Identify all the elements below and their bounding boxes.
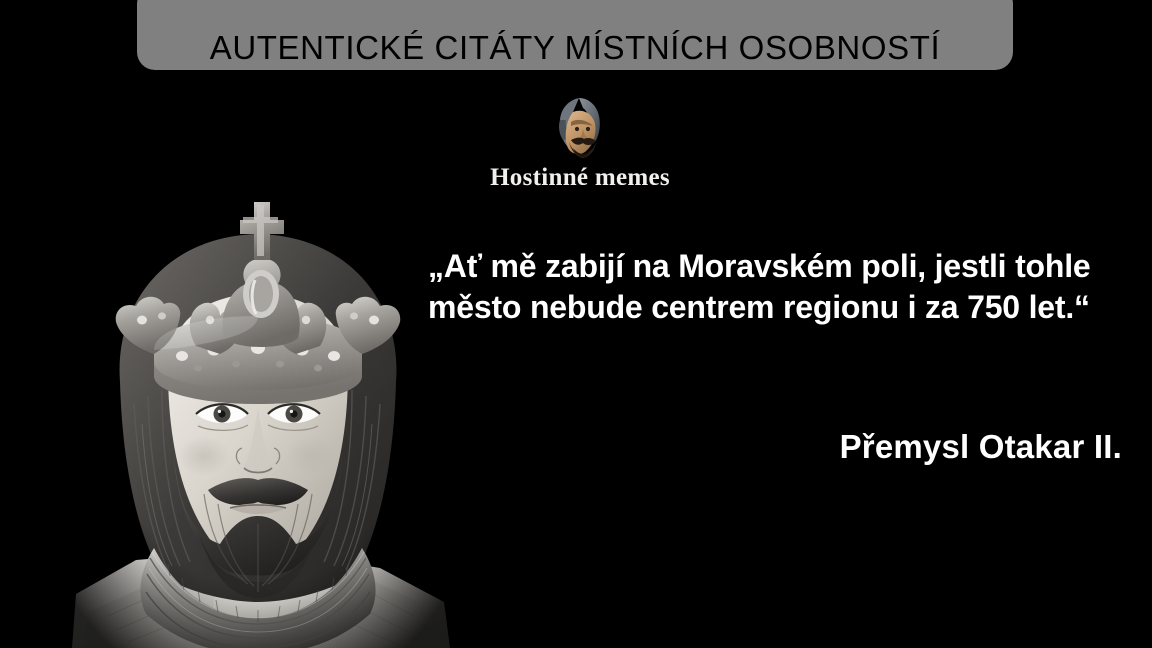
quote-line-1: „Ať mě zabijí na Moravském poli, jestli … bbox=[428, 246, 1144, 287]
meme-slide: AUTENTICKÉ CITÁTY MÍSTNÍCH OSOBNOSTÍ bbox=[0, 0, 1152, 648]
bearded-man-in-helmet-head-icon bbox=[549, 96, 611, 162]
portrait-illustration bbox=[58, 124, 458, 648]
quote-line-2: město nebude centrem regionu i za 750 le… bbox=[428, 287, 1144, 328]
brand-logo: Hostinné memes bbox=[452, 96, 708, 194]
quote-attribution: Přemysl Otakar II. bbox=[428, 428, 1122, 466]
quote-block: „Ať mě zabijí na Moravském poli, jestli … bbox=[428, 246, 1144, 328]
page-title: AUTENTICKÉ CITÁTY MÍSTNÍCH OSOBNOSTÍ bbox=[210, 31, 941, 64]
header-banner: AUTENTICKÉ CITÁTY MÍSTNÍCH OSOBNOSTÍ bbox=[137, 0, 1013, 70]
logo-wordmark: Hostinné memes bbox=[490, 164, 670, 192]
